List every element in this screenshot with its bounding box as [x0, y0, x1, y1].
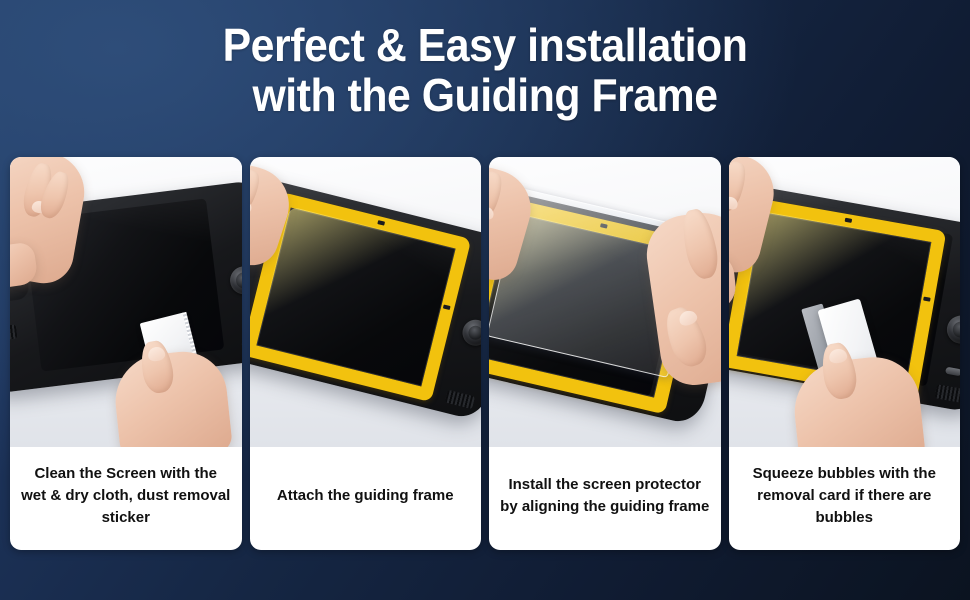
- step-card-4: Squeeze bubbles with the removal card if…: [729, 157, 961, 550]
- step-card-3: Install the screen protector by aligning…: [489, 157, 721, 550]
- title-line-1: Perfect & Easy installation: [34, 20, 936, 70]
- step-image-4: [729, 157, 961, 447]
- step-caption-text-2: Attach the guiding frame: [277, 485, 454, 507]
- frame-notch-right: [442, 304, 450, 310]
- step-caption-2: Attach the guiding frame: [250, 447, 482, 550]
- step-card-1: Clean the Screen with the wet & dry clot…: [10, 157, 242, 550]
- step-caption-3: Install the screen protector by aligning…: [489, 447, 721, 550]
- frame-notch-right: [923, 297, 931, 302]
- frame-notch-top: [377, 220, 385, 226]
- step-caption-4: Squeeze bubbles with the removal card if…: [729, 447, 961, 550]
- title-line-2: with the Guiding Frame: [34, 70, 936, 120]
- step-caption-1: Clean the Screen with the wet & dry clot…: [10, 447, 242, 550]
- step-image-1: [10, 157, 242, 447]
- page-title: Perfect & Easy installation with the Gui…: [0, 20, 970, 120]
- step-image-2: [250, 157, 482, 447]
- step-caption-text-4: Squeeze bubbles with the removal card if…: [739, 463, 951, 529]
- frame-notch-top: [844, 218, 852, 223]
- step-caption-text-1: Clean the Screen with the wet & dry clot…: [20, 463, 232, 529]
- step-card-2: Attach the guiding frame: [250, 157, 482, 550]
- step-image-3: [489, 157, 721, 447]
- steps-row: Clean the Screen with the wet & dry clot…: [10, 157, 960, 550]
- step-caption-text-3: Install the screen protector by aligning…: [499, 474, 711, 518]
